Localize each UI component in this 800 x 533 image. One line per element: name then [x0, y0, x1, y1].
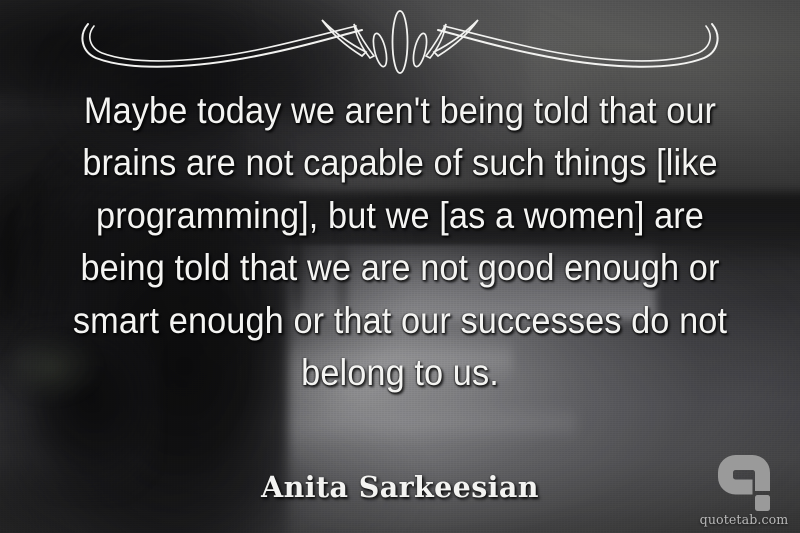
- quote-card: Maybe today we aren't being told that ou…: [0, 0, 800, 533]
- quote-text: Maybe today we aren't being told that ou…: [72, 84, 727, 398]
- watermark-site-label: quotetab.com: [700, 512, 789, 527]
- card-content: Maybe today we aren't being told that ou…: [0, 0, 800, 533]
- decorative-flourish-icon: [70, 6, 730, 78]
- watermark[interactable]: quotetab.com: [698, 455, 790, 527]
- quotetab-q-logo-icon: [718, 455, 770, 511]
